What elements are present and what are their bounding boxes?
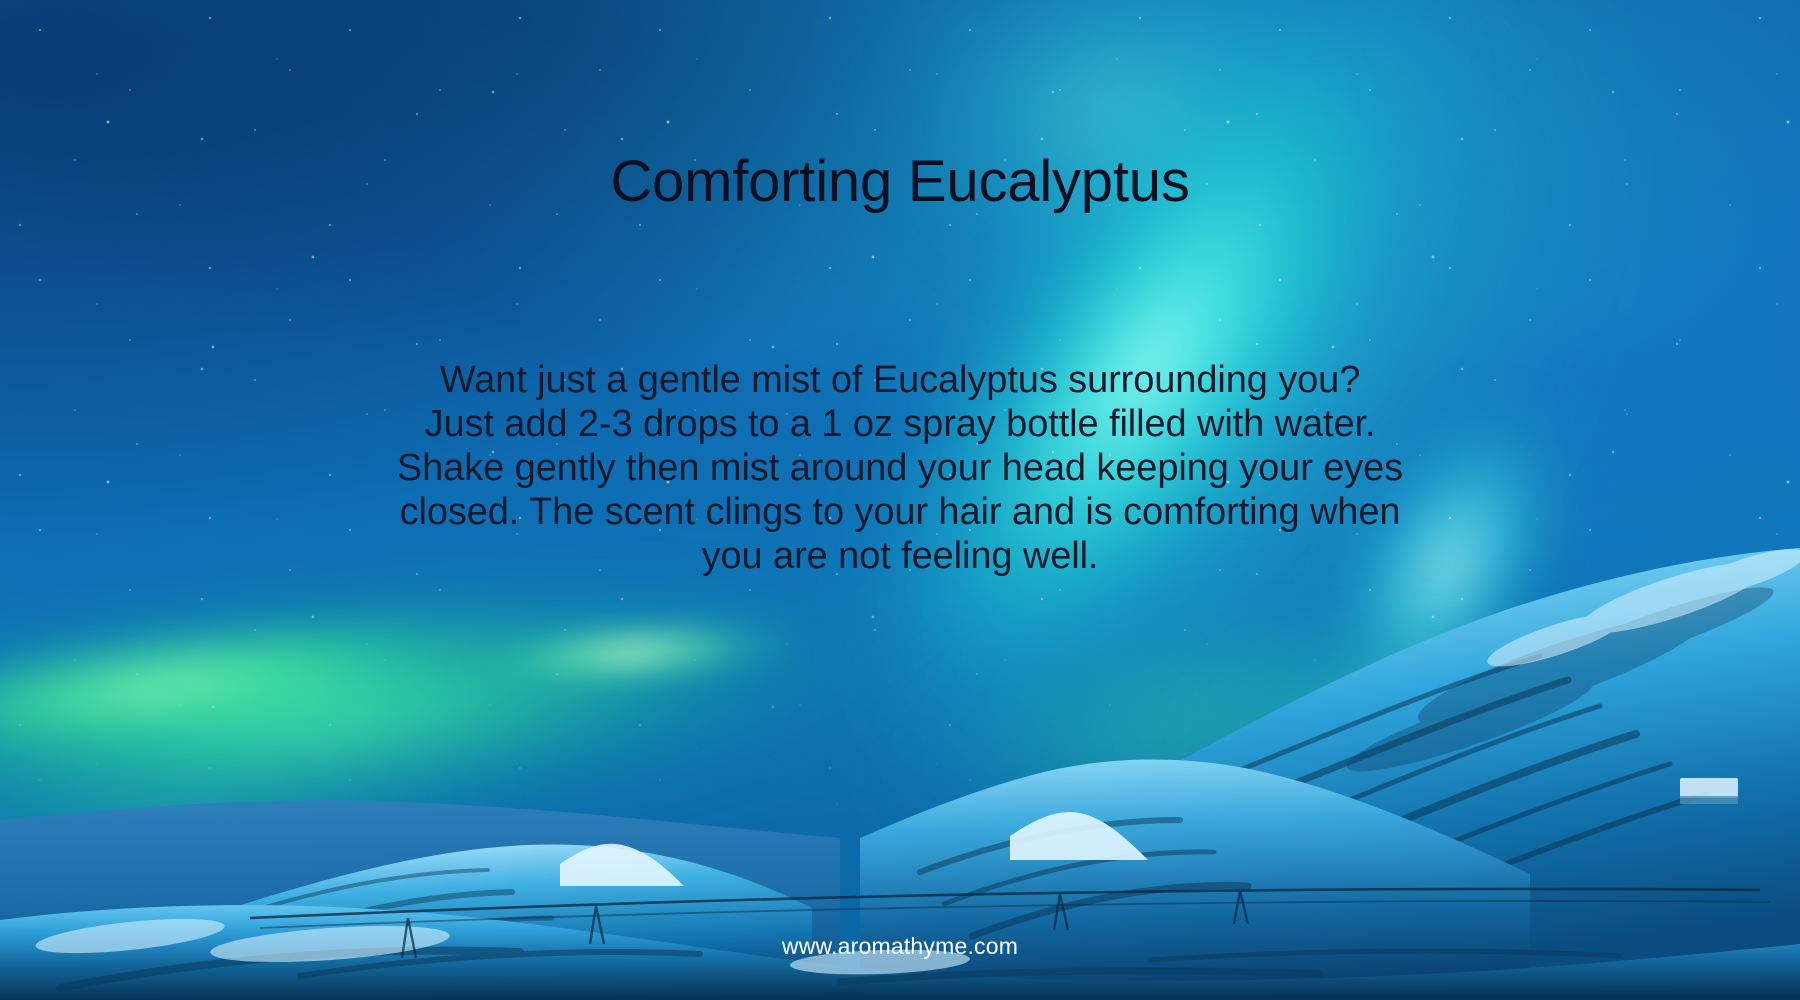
- slide-body-text: Want just a gentle mist of Eucalyptus su…: [395, 358, 1405, 578]
- snowy-mountain-terrain: [0, 520, 1800, 1000]
- website-url[interactable]: www.aromathyme.com: [0, 933, 1800, 960]
- body-line-3: Shake gently then mist around your head …: [395, 446, 1405, 490]
- body-line-1: Want just a gentle mist of Eucalyptus su…: [395, 358, 1405, 402]
- body-line-5: you are not feeling well.: [395, 534, 1405, 578]
- body-line-2: Just add 2-3 drops to a 1 oz spray bottl…: [395, 402, 1405, 446]
- slide-title: Comforting Eucalyptus: [0, 152, 1800, 213]
- body-line-4: closed. The scent clings to your hair an…: [395, 490, 1405, 534]
- slide-canvas: Comforting Eucalyptus Want just a gentle…: [0, 0, 1800, 1000]
